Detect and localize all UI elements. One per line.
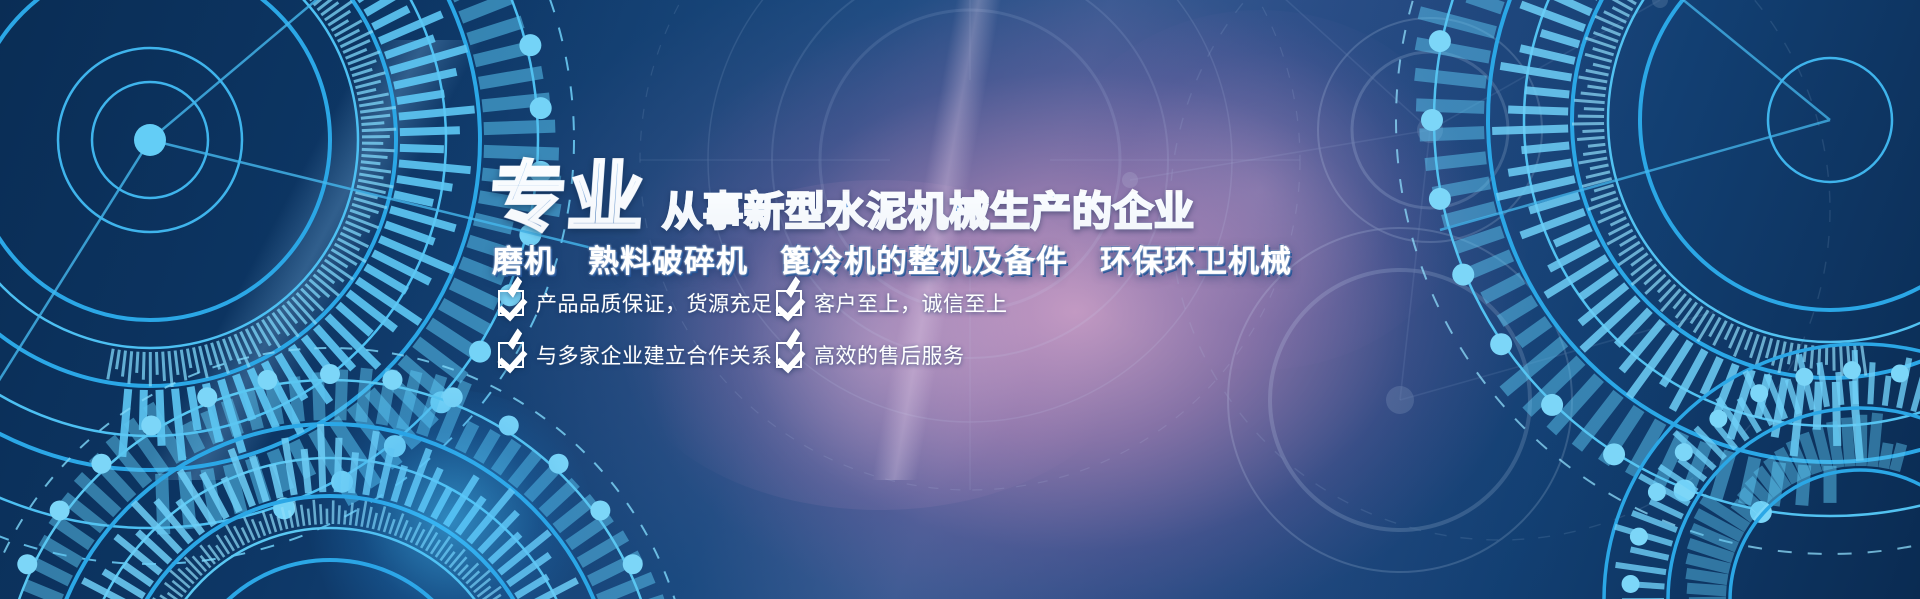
checklist-item: 客户至上，诚信至上 (776, 288, 1008, 318)
checklist-item-label: 高效的售后服务 (814, 340, 965, 370)
checklist-item: 高效的售后服务 (776, 340, 1008, 370)
feature-checklist: 产品品质保证，货源充足 客户至上，诚信至上 与多家企业建立合作关系 高效的售后服… (498, 288, 1008, 370)
checklist-item: 与多家企业建立合作关系 (498, 340, 752, 370)
headline-sub-text: 从事新型水泥机械生产的企业 (662, 192, 1195, 236)
checklist-item: 产品品质保证，货源充足 (498, 288, 752, 318)
checkbox-checked-icon (498, 290, 524, 316)
product-tagline: 磨机 熟料破碎机 篦冷机的整机及备件 环保环卫机械 (492, 236, 1292, 281)
checkbox-checked-icon (776, 342, 802, 368)
banner-content: 专业 从事新型水泥机械生产的企业 磨机 熟料破碎机 篦冷机的整机及备件 环保环卫… (0, 0, 1920, 599)
checklist-item-label: 客户至上，诚信至上 (814, 288, 1008, 318)
checklist-item-label: 产品品质保证，货源充足 (536, 288, 773, 318)
checkbox-checked-icon (498, 342, 524, 368)
checklist-item-label: 与多家企业建立合作关系 (536, 340, 773, 370)
hero-banner: 专业 从事新型水泥机械生产的企业 磨机 熟料破碎机 篦冷机的整机及备件 环保环卫… (0, 0, 1920, 599)
headline: 专业 从事新型水泥机械生产的企业 (490, 160, 1195, 236)
headline-main-text: 专业 (487, 160, 648, 236)
checkbox-checked-icon (776, 290, 802, 316)
